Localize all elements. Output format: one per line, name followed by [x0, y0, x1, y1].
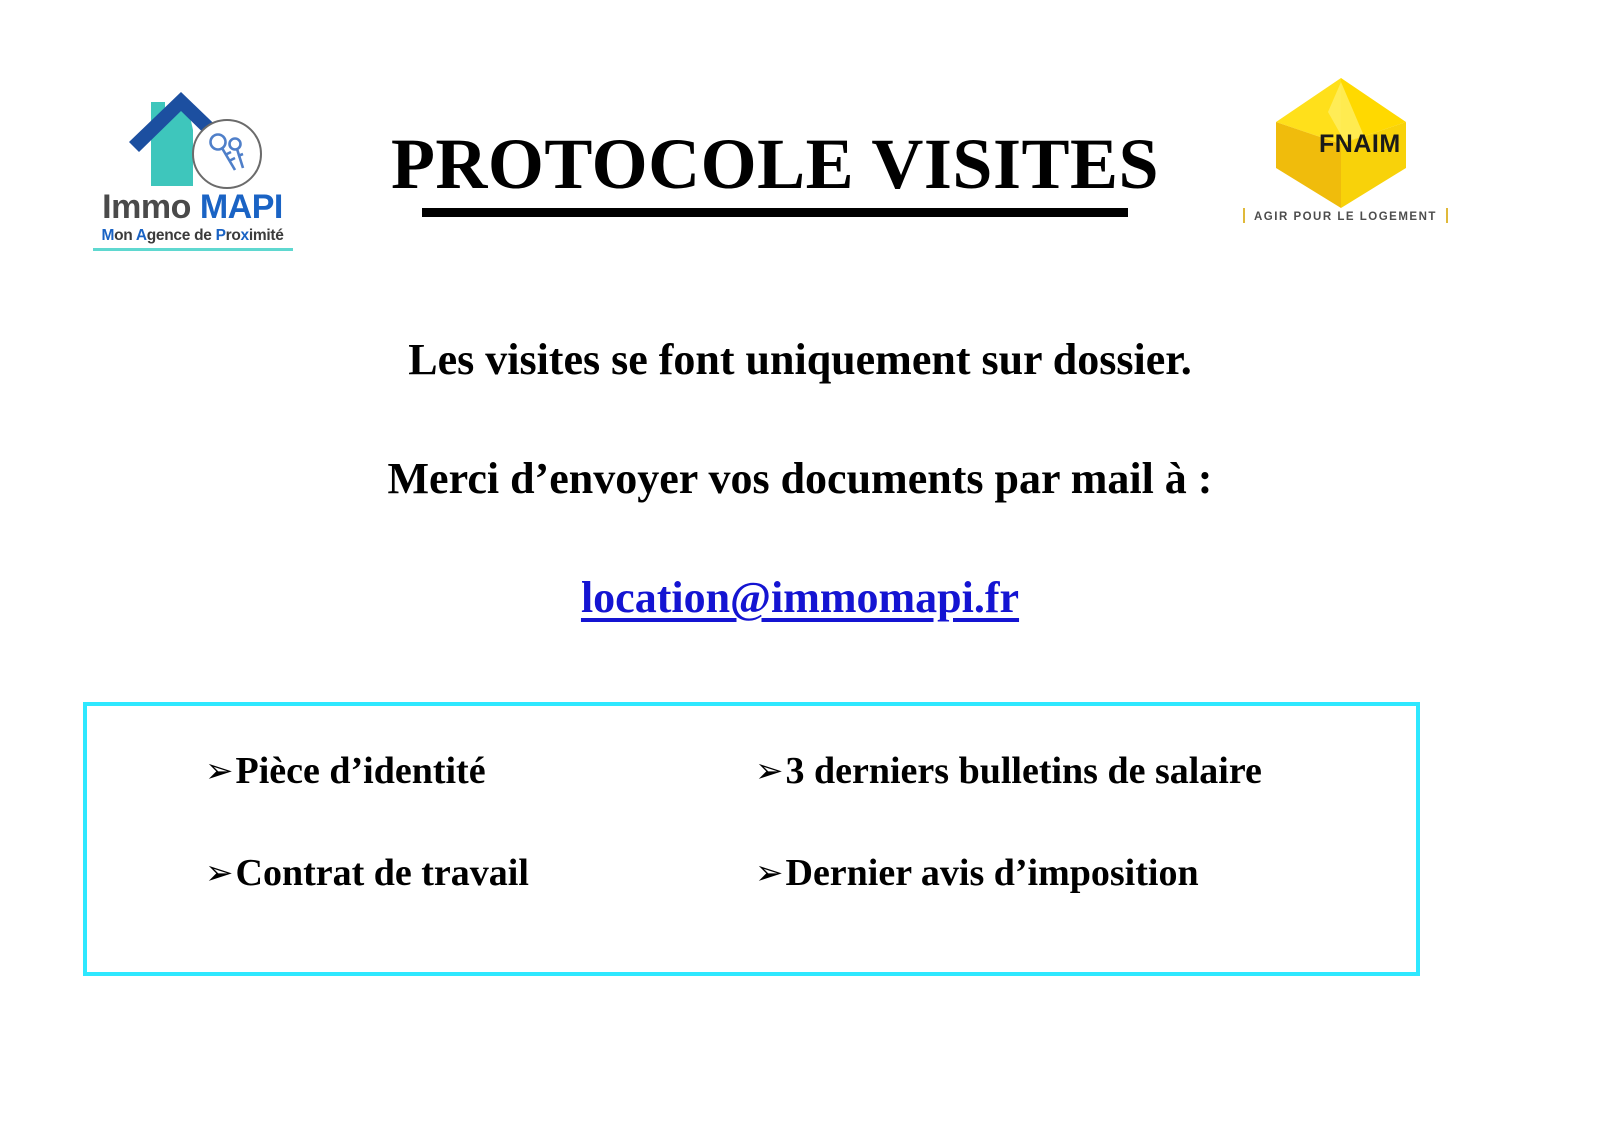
fnaim-tagline-text: AGIR POUR LE LOGEMENT: [1254, 211, 1437, 223]
immo-mapi-tagline: Mon Agence de Proximité: [85, 228, 300, 244]
arrow-bullet-icon: ➢: [205, 853, 234, 893]
page-header: Immo MAPI Mon Agence de Proximité PROTOC…: [0, 0, 1600, 270]
tagline-seg-1: on: [114, 227, 136, 244]
list-item-label: Contrat de travail: [236, 852, 529, 894]
page-title-underline: [422, 208, 1128, 217]
list-item: ➢Contrat de travail: [205, 854, 529, 892]
wordmark-mapi: MAPI: [200, 188, 283, 226]
required-documents-box: ➢Pièce d’identité ➢Contrat de travail ➢3…: [83, 702, 1420, 976]
tagline-seg-5: ro: [226, 227, 241, 244]
fnaim-wordmark: FNAIM: [1319, 132, 1401, 157]
tagline-seg-3: gence de: [147, 227, 216, 244]
wordmark-immo: Immo: [102, 188, 191, 226]
tagline-bar-right-icon: [1446, 208, 1448, 223]
tagline-seg-7: imité: [249, 227, 284, 244]
arrow-bullet-icon: ➢: [755, 751, 784, 791]
arrow-bullet-icon: ➢: [205, 751, 234, 791]
page-title-container: PROTOCOLE VISITES: [380, 128, 1170, 217]
fnaim-mark: FNAIM: [1243, 76, 1439, 210]
tagline-seg-6: x: [241, 227, 249, 244]
tagline-seg-2: A: [136, 227, 147, 244]
tagline-seg-4: P: [216, 227, 226, 244]
immo-mapi-logo: Immo MAPI Mon Agence de Proximité: [85, 82, 300, 247]
tagline-seg-0: M: [101, 227, 114, 244]
tagline-bar-left-icon: [1243, 208, 1245, 223]
list-item-label: 3 derniers bulletins de salaire: [786, 750, 1262, 792]
statement-line-1: Les visites se font uniquement sur dossi…: [0, 338, 1600, 382]
arrow-bullet-icon: ➢: [755, 853, 784, 893]
immo-mapi-mark: [85, 82, 300, 194]
statement-line-2: Merci d’envoyer vos documents par mail à…: [0, 457, 1600, 501]
required-documents-grid: ➢Pièce d’identité ➢Contrat de travail ➢3…: [87, 706, 1416, 972]
list-item-label: Pièce d’identité: [236, 750, 486, 792]
email-link[interactable]: location@immomapi.fr: [581, 573, 1019, 622]
immo-mapi-wordmark: Immo MAPI: [85, 190, 300, 224]
immo-mapi-underline-rule: [93, 248, 293, 251]
house-keys-icon: [85, 82, 300, 194]
list-item: ➢Dernier avis d’imposition: [755, 854, 1199, 892]
list-item-label: Dernier avis d’imposition: [786, 852, 1199, 894]
page-title: PROTOCOLE VISITES: [391, 128, 1159, 200]
fnaim-logo: FNAIM AGIR POUR LE LOGEMENT: [1243, 76, 1439, 242]
fnaim-tagline: AGIR POUR LE LOGEMENT: [1243, 208, 1439, 223]
list-item: ➢Pièce d’identité: [205, 752, 486, 790]
email-line-container: location@immomapi.fr: [0, 576, 1600, 620]
list-item: ➢3 derniers bulletins de salaire: [755, 752, 1262, 790]
